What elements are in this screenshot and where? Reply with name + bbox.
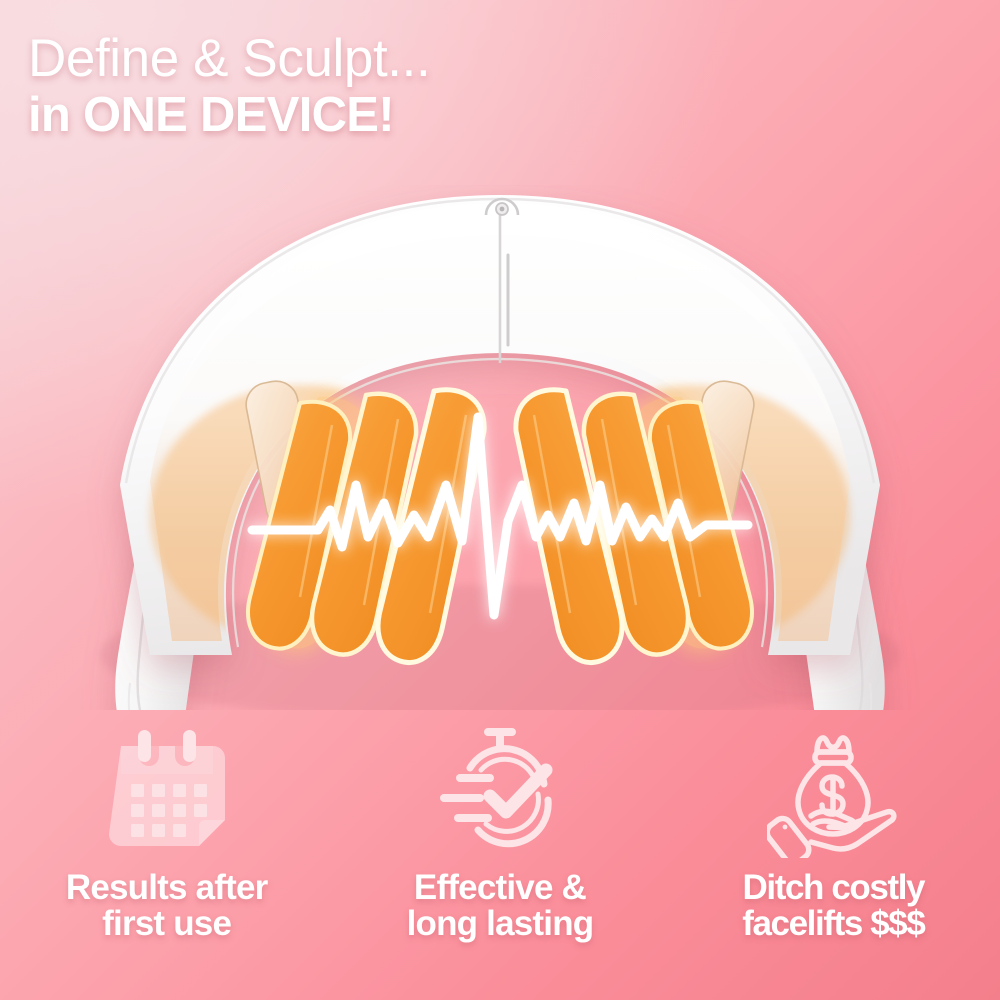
money-bag-hand-icon [767, 726, 899, 858]
headline-line-1: Define & Sculpt... [28, 30, 648, 87]
stopwatch-check-icon [434, 726, 566, 858]
benefit-label: Effective & long lasting [407, 870, 594, 943]
benefit-item-results-after-first-use: Results after first use [0, 718, 333, 1000]
product-image [0, 185, 1000, 710]
benefit-label: Ditch costly facelifts $$$ [742, 870, 924, 943]
headline-block: Define & Sculpt... in ONE DEVICE! [28, 30, 648, 145]
benefit-label: Results after first use [66, 870, 268, 943]
benefit-item-effective-long-lasting: Effective & long lasting [333, 718, 666, 1000]
benefits-row: Results after first use Eff [0, 718, 1000, 1000]
benefit-item-ditch-costly-facelifts: Ditch costly facelifts $$$ [667, 718, 1000, 1000]
headline-line-2: in ONE DEVICE! [28, 87, 648, 145]
calendar-icon [101, 726, 233, 858]
